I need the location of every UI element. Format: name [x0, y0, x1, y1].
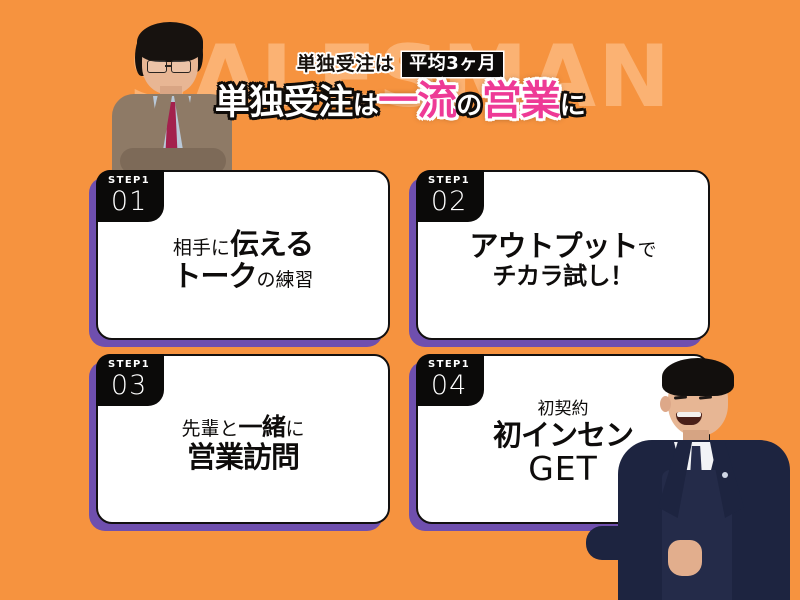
step-card-03[interactable]: 先輩と一緒に営業訪問 STEP1 03	[96, 354, 390, 524]
card-4-line-3-seg-1: GET	[528, 449, 598, 488]
salesman-right-photo	[610, 350, 800, 600]
card-4-line-1: 初契約	[538, 400, 589, 419]
card-4-line-3: GET	[528, 451, 598, 488]
card-2-line-1: アウトプットで	[469, 230, 656, 262]
headline-particle-ni: に	[560, 93, 586, 119]
card-2-line-2: チカラ試し！	[493, 263, 634, 290]
card-2-line-1-seg-1: アウトプット	[469, 229, 637, 263]
slide-canvas: SALESMAN 単独受注は 平均3ヶ月 単独受注 は 一流 の 営業 に	[0, 0, 800, 600]
step-badge-04-number: 04	[428, 372, 470, 399]
headline-block: 単独受注は 平均3ヶ月 単独受注 は 一流 の 営業 に	[0, 52, 800, 121]
step-badge-03: STEP1 03	[96, 354, 164, 406]
teeth	[677, 412, 701, 417]
card-3-line-2: 営業訪問	[187, 441, 299, 473]
step-badge-03-number: 03	[108, 372, 150, 399]
headline-particle-wa: は	[353, 93, 379, 119]
headline-line-2: 単独受注 は 一流 の 営業 に	[0, 81, 800, 121]
headline-part-1: 単独受注	[215, 86, 353, 121]
hair	[662, 358, 734, 396]
card-3-line-1-seg-1: 先輩と	[181, 418, 238, 440]
card-1-line-2: トークの練習	[172, 260, 313, 292]
step-badge-01: STEP1 01	[96, 170, 164, 222]
card-3-line-2-seg-1: 営業訪問	[187, 440, 299, 474]
step-badge-03-label: STEP1	[108, 360, 150, 370]
headline-line-1: 単独受注は 平均3ヶ月	[0, 52, 800, 77]
step-badge-02-number: 02	[428, 188, 470, 215]
headline-duration-badge: 平均3ヶ月	[402, 52, 503, 77]
headline-highlight-2: 営業	[482, 81, 560, 121]
card-1-line-1-seg-1: 相手に	[173, 237, 230, 259]
step-badge-01-label: STEP1	[108, 176, 150, 186]
step-badge-02: STEP1 02	[416, 170, 484, 222]
card-3-line-1: 先輩と一緒に	[181, 414, 304, 441]
ear	[660, 396, 671, 412]
headline-highlight-1: 一流	[378, 81, 456, 121]
step-card-02[interactable]: アウトプットでチカラ試し！ STEP1 02	[416, 170, 710, 340]
card-2-line-1-seg-2: で	[638, 239, 657, 261]
raised-fist	[668, 540, 702, 576]
card-1-line-2-seg-1: トーク	[172, 259, 256, 293]
step-badge-04: STEP1 04	[416, 354, 484, 406]
step-badge-04-label: STEP1	[428, 360, 470, 370]
step-card-01[interactable]: 相手に伝えるトークの練習 STEP1 01	[96, 170, 390, 340]
step-badge-01-number: 01	[108, 188, 150, 215]
card-1-line-1-seg-2: 伝える	[230, 227, 313, 261]
card-4-line-1-seg-1: 初契約	[538, 399, 589, 419]
step-badge-02-label: STEP1	[428, 176, 470, 186]
card-1-line-2-seg-2: の練習	[257, 269, 314, 291]
card-3-line-1-seg-2: 一緒	[239, 413, 286, 441]
card-2-line-2-seg-1: チカラ試し！	[493, 262, 634, 290]
card-1-line-1: 相手に伝える	[173, 228, 313, 260]
headline-line1-text: 単独受注は	[297, 55, 395, 74]
lapel-pin	[722, 472, 728, 478]
card-3-line-1-seg-3: に	[286, 418, 305, 440]
headline-particle-no: の	[456, 93, 482, 119]
